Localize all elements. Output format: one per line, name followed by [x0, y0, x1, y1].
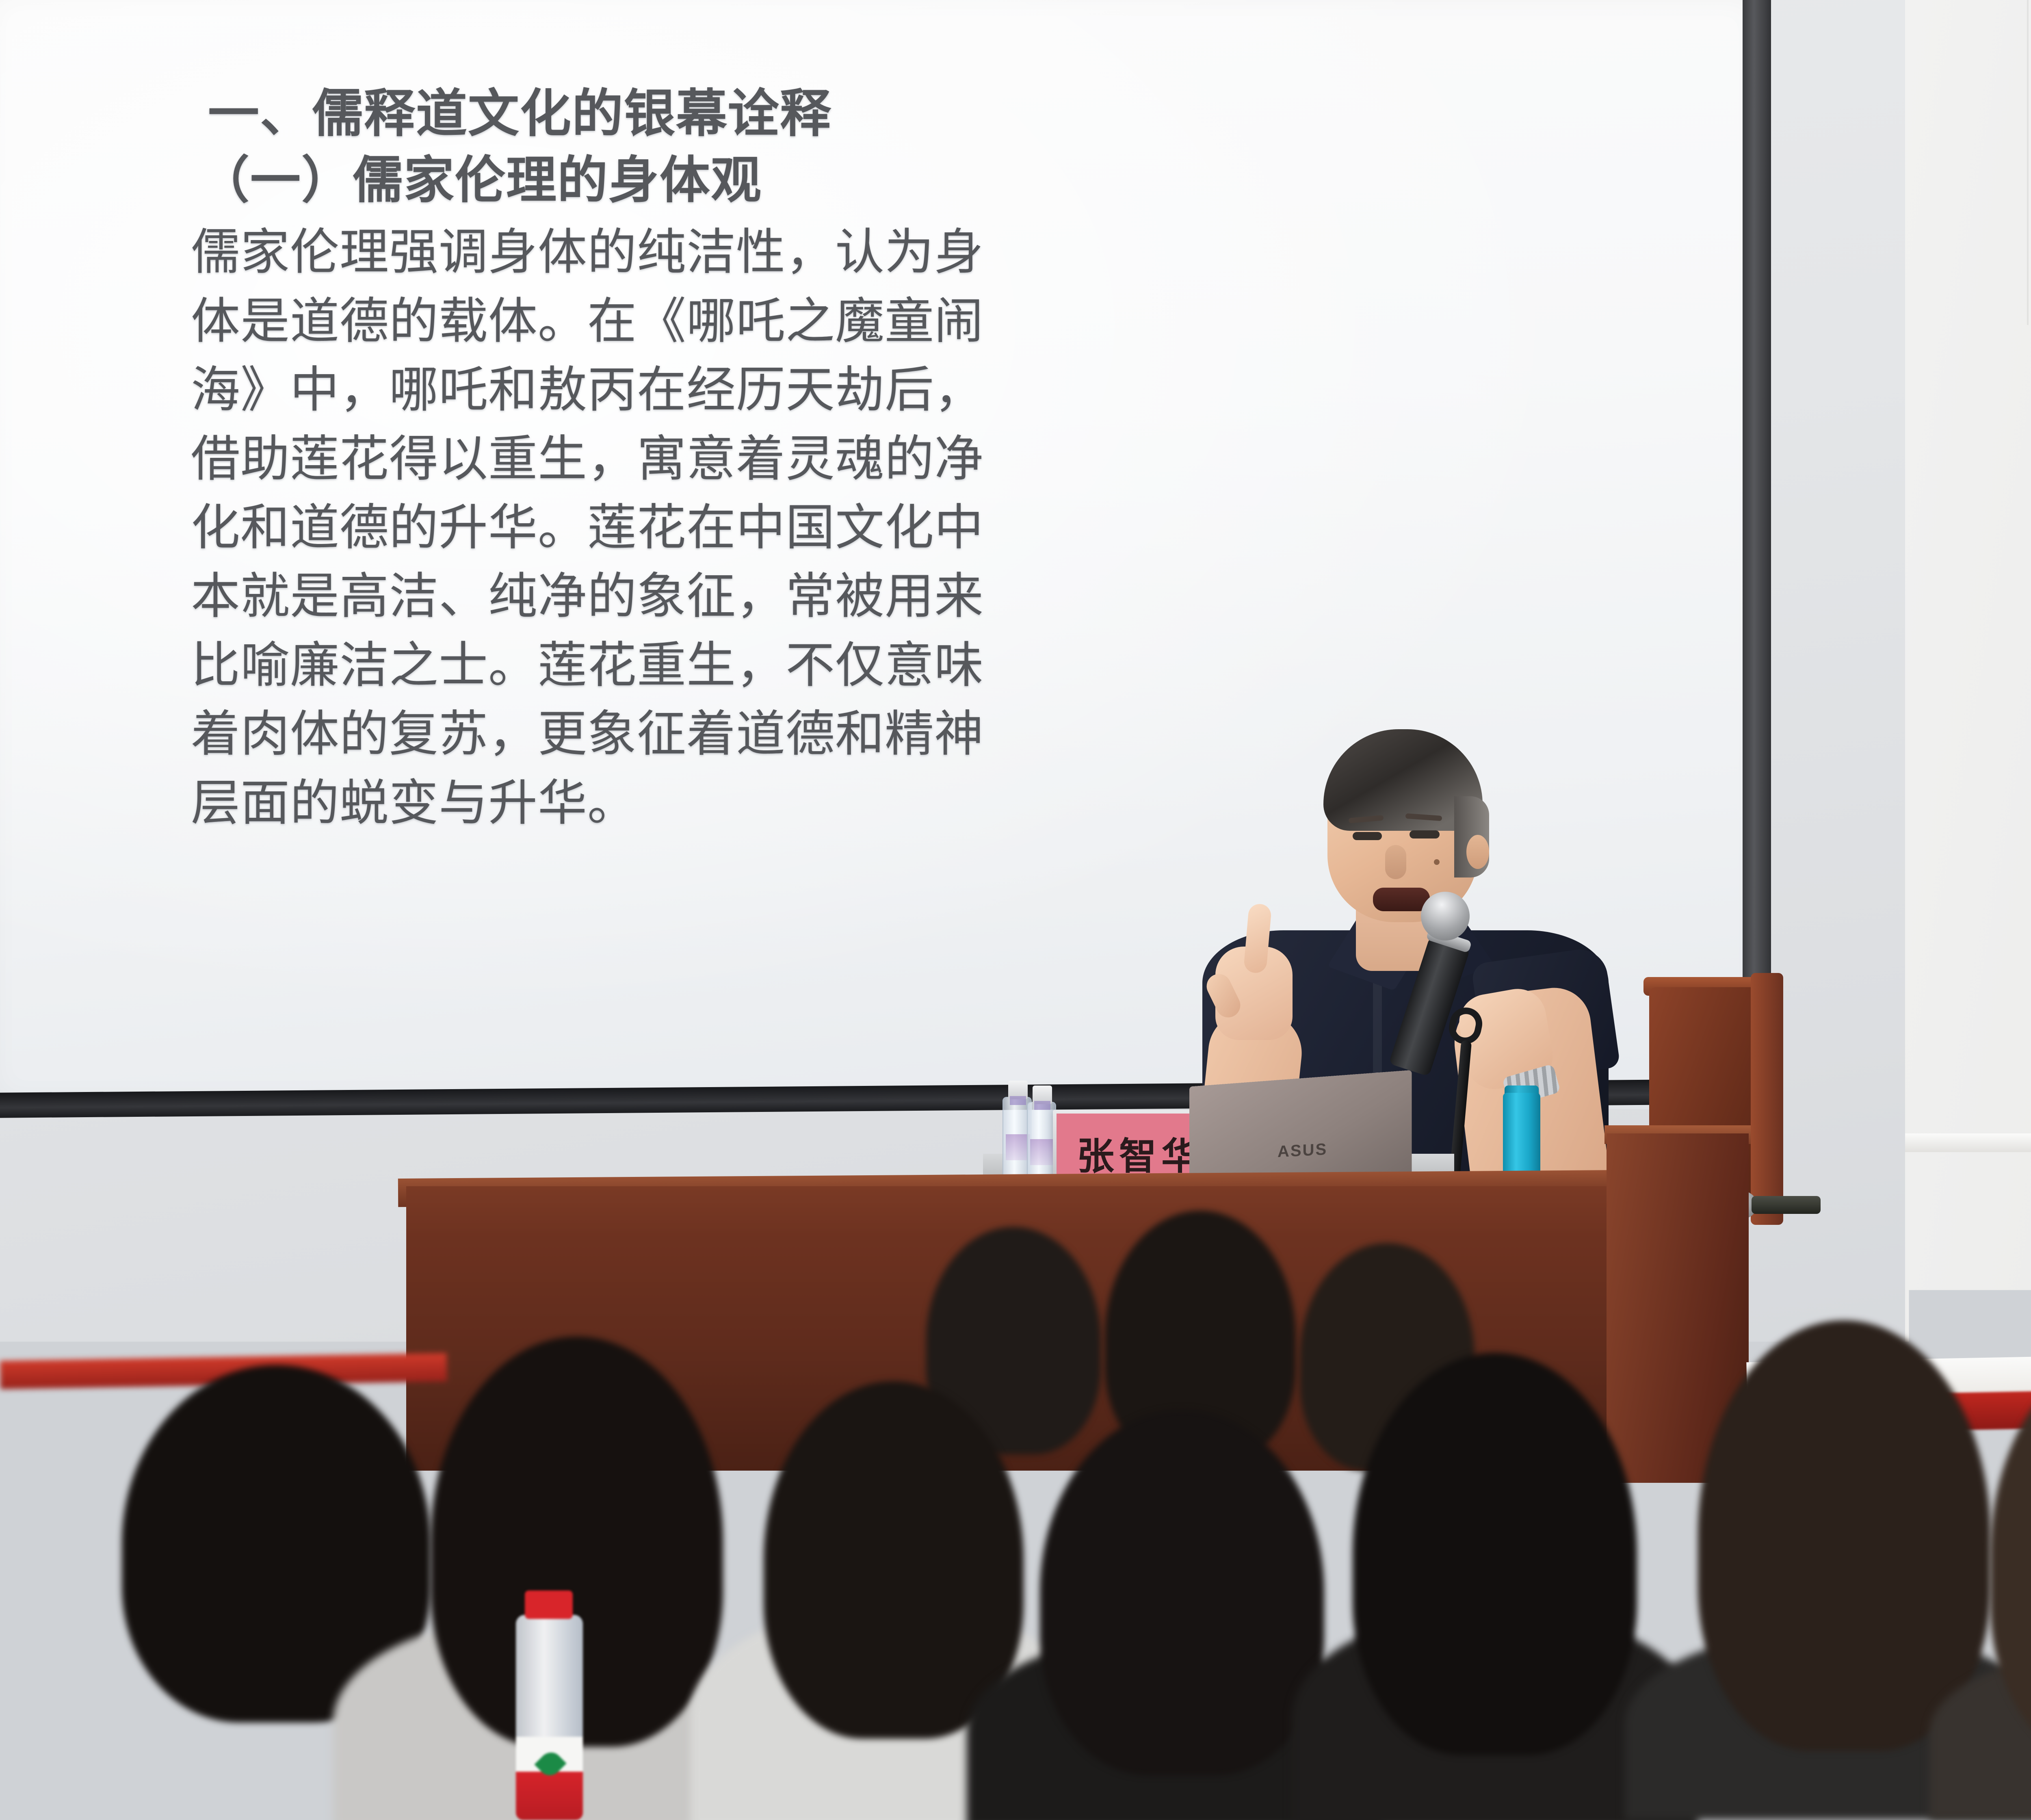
slide-body-line: 儒家伦理强调身体的纯洁性，认为身	[191, 218, 1133, 286]
bottle-label	[1006, 1134, 1030, 1160]
audience-head	[1698, 1320, 1990, 1751]
wall-seam	[2027, 0, 2029, 325]
slide-heading: 一、儒释道文化的银幕诠释	[208, 83, 1133, 144]
lecture-hall-photo: 一、儒释道文化的银幕诠释 （一）儒家伦理的身体观 儒家伦理强调身体的纯洁性，认为…	[0, 0, 2031, 1820]
bottle-neck	[1034, 1101, 1050, 1110]
right-wall	[1905, 0, 2031, 1471]
slide-body-line: 层面的蜕变与升华。	[191, 769, 1133, 837]
slide-body: 儒家伦理强调身体的纯洁性，认为身 体是道德的载体。在《哪吒之魔童闹 海》中，哪吒…	[191, 218, 1133, 837]
speaker-mouth	[1373, 888, 1430, 911]
audience-head	[1353, 1353, 1637, 1755]
bottle-label	[1030, 1139, 1054, 1165]
speaker-name: 张智华	[1077, 1126, 1204, 1180]
speaker-nose	[1385, 845, 1406, 879]
bottle-neck	[1010, 1096, 1026, 1105]
slide-subheading: （一）儒家伦理的身体观	[199, 150, 1133, 211]
speaker-ear	[1466, 835, 1489, 869]
wall-ledge	[1905, 1133, 2031, 1152]
microphone-shaft	[1752, 1196, 1821, 1214]
slide-body-line: 本就是高洁、纯净的象征，常被用来	[191, 562, 1133, 630]
speaker-mole	[1434, 859, 1440, 865]
slide-body-line: 化和道德的升华。莲花在中国文化中	[191, 493, 1133, 562]
slide-body-line: 借助莲花得以重生，寓意着灵魂的净	[191, 425, 1133, 493]
slide-body-line: 体是道德的载体。在《哪吒之魔童闹	[191, 287, 1133, 355]
chair-post	[1751, 973, 1783, 1225]
speaker-eye-left	[1353, 832, 1382, 840]
slide-body-line: 海》中，哪吒和敖丙在经历天劫后，	[191, 355, 1133, 424]
audience-head	[1040, 1410, 1324, 1775]
laptop-brand-logo: ASUS	[1277, 1140, 1327, 1161]
speaker-eye-right	[1410, 830, 1440, 838]
slide-content: 一、儒释道文化的银幕诠释 （一）儒家伦理的身体观 儒家伦理强调身体的纯洁性，认为…	[191, 83, 1133, 837]
slide-body-line: 着肉体的复苏，更象征着道德和精神	[191, 700, 1133, 768]
audience-head	[764, 1381, 1024, 1739]
screen-roller	[1743, 0, 1771, 1121]
water-bottle[interactable]	[516, 1615, 583, 1820]
bottle-cap-icon	[525, 1590, 573, 1619]
bottle-label	[516, 1737, 583, 1820]
slide-body-line: 比喻廉洁之士。莲花重生，不仅意味	[191, 631, 1133, 700]
